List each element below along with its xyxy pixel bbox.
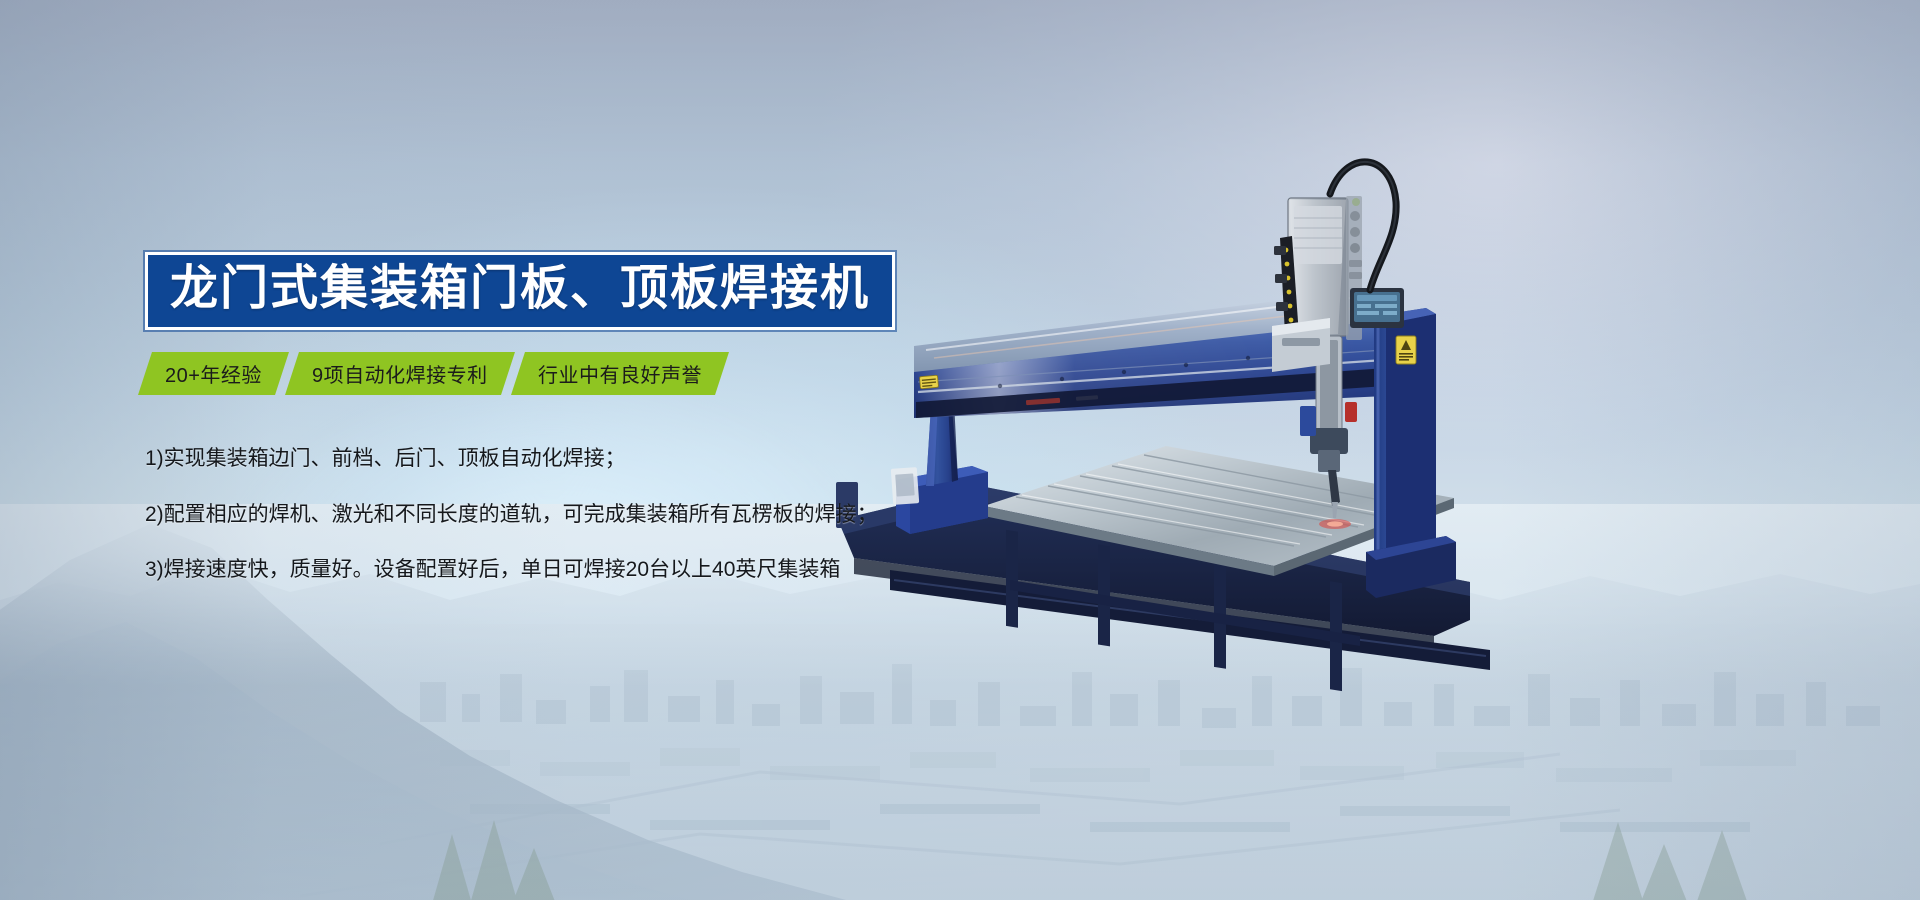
right-column bbox=[1366, 308, 1456, 598]
machine-photo bbox=[830, 150, 1490, 670]
carriage-bracket bbox=[1272, 318, 1330, 372]
feature-item: 1)实现集装箱边门、前档、后门、顶板自动化焊接； bbox=[145, 443, 905, 475]
hero-banner: 龙门式集装箱门板、顶板焊接机 20+年经验 9项自动化焊接专利 行业中有良好声誉… bbox=[0, 0, 1920, 900]
warning-label bbox=[920, 375, 939, 389]
badge-reputation: 行业中有良好声誉 bbox=[511, 352, 729, 395]
feature-item: 2)配置相应的焊机、激光和不同长度的道轨，可完成集装箱所有瓦楞板的焊接； bbox=[145, 499, 905, 531]
banner-content: 龙门式集装箱门板、顶板焊接机 20+年经验 9项自动化焊接专利 行业中有良好声誉… bbox=[145, 252, 905, 586]
page-title: 龙门式集装箱门板、顶板焊接机 bbox=[170, 265, 870, 313]
badge-patents: 9项自动化焊接专利 bbox=[285, 352, 515, 395]
feature-list: 1)实现集装箱边门、前档、后门、顶板自动化焊接； 2)配置相应的焊机、激光和不同… bbox=[145, 443, 905, 586]
badge-list: 20+年经验 9项自动化焊接专利 行业中有良好声誉 bbox=[145, 352, 905, 395]
feature-item: 3)焊接速度快，质量好。设备配置好后，单日可焊接20台以上40英尺集装箱 bbox=[145, 554, 905, 586]
badge-experience: 20+年经验 bbox=[138, 352, 289, 395]
badge-label: 9项自动化焊接专利 bbox=[312, 359, 488, 388]
badge-label: 20+年经验 bbox=[165, 359, 262, 388]
title-box: 龙门式集装箱门板、顶板焊接机 bbox=[145, 252, 895, 330]
hmi-screen bbox=[1350, 288, 1404, 328]
badge-label: 行业中有良好声誉 bbox=[538, 359, 702, 388]
